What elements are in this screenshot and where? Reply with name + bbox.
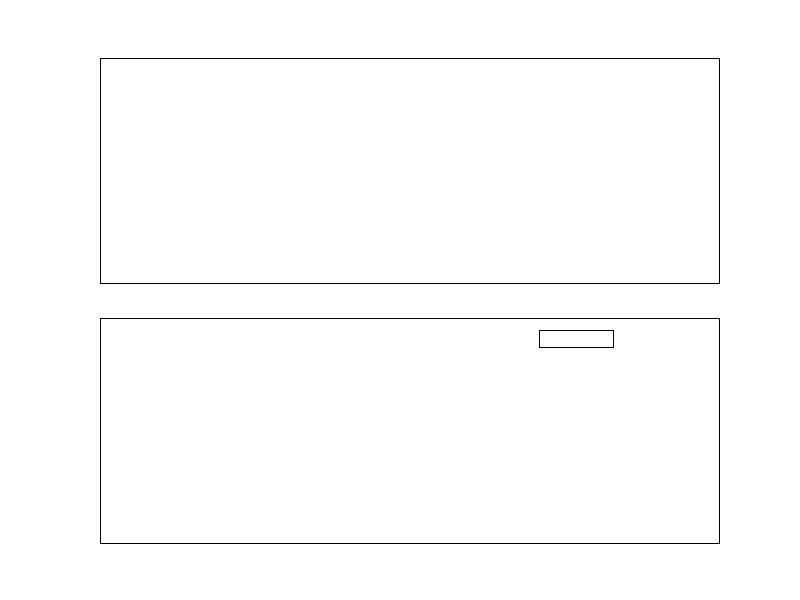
cumulative-histogram-plot (101, 319, 719, 543)
differential-histogram-axes (100, 58, 720, 284)
differential-histogram-plot (101, 59, 719, 283)
cumulative-histogram-axes (100, 318, 720, 544)
legend[interactable] (539, 330, 614, 348)
mag-limit-legend-swatch (550, 338, 586, 340)
figure-canvas (0, 0, 800, 600)
